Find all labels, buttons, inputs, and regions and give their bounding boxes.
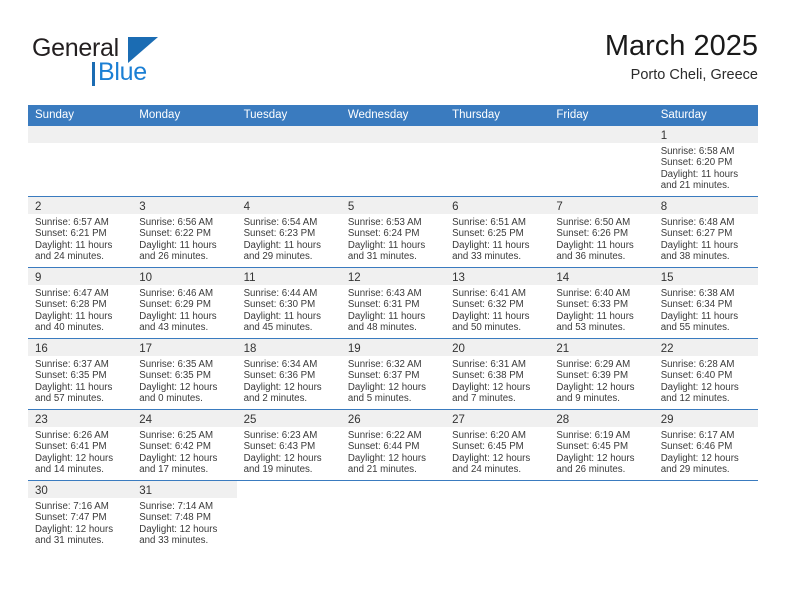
sunrise-text: Sunrise: 6:44 AM [244,288,335,299]
daylight-text-line1: Daylight: 12 hours [556,453,647,464]
day-number: 27 [452,414,465,426]
daylight-text-line2: and 38 minutes. [661,251,752,262]
day-number-band: 24 [132,410,236,427]
day-number-band: 25 [237,410,341,427]
day-number-band [132,126,236,143]
sunset-text: Sunset: 6:24 PM [348,228,439,239]
sunrise-text: Sunrise: 6:19 AM [556,430,647,441]
sunset-text: Sunset: 7:48 PM [139,512,230,523]
calendar-grid: SundayMondayTuesdayWednesdayThursdayFrid… [28,105,758,551]
day-number-band: 26 [341,410,445,427]
sunset-text: Sunset: 6:22 PM [139,228,230,239]
sunset-text: Sunset: 6:35 PM [139,370,230,381]
day-cell-28[interactable]: 28Sunrise: 6:19 AMSunset: 6:45 PMDayligh… [549,410,653,480]
sunset-text: Sunset: 6:30 PM [244,299,335,310]
daylight-text-line1: Daylight: 12 hours [452,453,543,464]
daylight-text-line1: Daylight: 12 hours [452,382,543,393]
day-cell-15[interactable]: 15Sunrise: 6:38 AMSunset: 6:34 PMDayligh… [654,268,758,338]
calendar-week-row: 9Sunrise: 6:47 AMSunset: 6:28 PMDaylight… [28,268,758,339]
day-details: Sunrise: 7:14 AMSunset: 7:48 PMDaylight:… [132,498,236,547]
day-details: Sunrise: 6:32 AMSunset: 6:37 PMDaylight:… [341,356,445,405]
sunset-text: Sunset: 6:32 PM [452,299,543,310]
day-details: Sunrise: 6:17 AMSunset: 6:46 PMDaylight:… [654,427,758,476]
day-number-band: 21 [549,339,653,356]
daylight-text-line1: Daylight: 11 hours [452,311,543,322]
sunset-text: Sunset: 6:29 PM [139,299,230,310]
day-number-band [237,126,341,143]
daylight-text-line2: and 9 minutes. [556,393,647,404]
sunrise-text: Sunrise: 6:37 AM [35,359,126,370]
sunrise-text: Sunrise: 6:57 AM [35,217,126,228]
sunrise-text: Sunrise: 6:29 AM [556,359,647,370]
daylight-text-line1: Daylight: 11 hours [244,311,335,322]
day-details: Sunrise: 6:54 AMSunset: 6:23 PMDaylight:… [237,214,341,263]
day-cell-empty [237,481,341,551]
day-details: Sunrise: 6:28 AMSunset: 6:40 PMDaylight:… [654,356,758,405]
day-cell-7[interactable]: 7Sunrise: 6:50 AMSunset: 6:26 PMDaylight… [549,197,653,267]
day-number-band [654,481,758,498]
weekday-header-row: SundayMondayTuesdayWednesdayThursdayFrid… [28,105,758,126]
sunset-text: Sunset: 6:20 PM [661,157,752,168]
day-number: 20 [452,343,465,355]
day-number-band: 6 [445,197,549,214]
day-number-band: 8 [654,197,758,214]
day-number-band: 23 [28,410,132,427]
daylight-text-line1: Daylight: 11 hours [661,169,752,180]
daylight-text-line2: and 26 minutes. [139,251,230,262]
day-number-band: 29 [654,410,758,427]
daylight-text-line1: Daylight: 11 hours [452,240,543,251]
weekday-header-sunday: Sunday [28,105,132,126]
daylight-text-line1: Daylight: 12 hours [348,453,439,464]
day-cell-5[interactable]: 5Sunrise: 6:53 AMSunset: 6:24 PMDaylight… [341,197,445,267]
day-details: Sunrise: 6:22 AMSunset: 6:44 PMDaylight:… [341,427,445,476]
sunrise-text: Sunrise: 6:43 AM [348,288,439,299]
daylight-text-line2: and 40 minutes. [35,322,126,333]
day-cell-26[interactable]: 26Sunrise: 6:22 AMSunset: 6:44 PMDayligh… [341,410,445,480]
day-number-band: 1 [654,126,758,143]
day-details: Sunrise: 6:51 AMSunset: 6:25 PMDaylight:… [445,214,549,263]
day-details: Sunrise: 6:35 AMSunset: 6:35 PMDaylight:… [132,356,236,405]
daylight-text-line2: and 0 minutes. [139,393,230,404]
day-details: Sunrise: 6:25 AMSunset: 6:42 PMDaylight:… [132,427,236,476]
day-number: 14 [556,272,569,284]
day-number-band: 17 [132,339,236,356]
daylight-text-line2: and 24 minutes. [452,464,543,475]
day-number-band: 3 [132,197,236,214]
daylight-text-line1: Daylight: 12 hours [661,453,752,464]
day-number-band [341,481,445,498]
day-number-band: 7 [549,197,653,214]
daylight-text-line1: Daylight: 12 hours [244,453,335,464]
day-cell-6[interactable]: 6Sunrise: 6:51 AMSunset: 6:25 PMDaylight… [445,197,549,267]
daylight-text-line1: Daylight: 12 hours [35,453,126,464]
daylight-text-line1: Daylight: 12 hours [661,382,752,393]
sunrise-text: Sunrise: 6:23 AM [244,430,335,441]
day-cell-empty [445,126,549,196]
day-number: 22 [661,343,674,355]
page-header: General Blue March 2025 Porto Cheli, Gre… [28,28,758,90]
day-number: 9 [35,272,41,284]
day-number: 30 [35,485,48,497]
day-details: Sunrise: 6:50 AMSunset: 6:26 PMDaylight:… [549,214,653,263]
daylight-text-line2: and 19 minutes. [244,464,335,475]
daylight-text-line2: and 17 minutes. [139,464,230,475]
sunset-text: Sunset: 6:39 PM [556,370,647,381]
day-details: Sunrise: 6:37 AMSunset: 6:35 PMDaylight:… [28,356,132,405]
day-number-band [445,481,549,498]
day-number-band: 22 [654,339,758,356]
sunrise-text: Sunrise: 6:50 AM [556,217,647,228]
day-cell-20[interactable]: 20Sunrise: 6:31 AMSunset: 6:38 PMDayligh… [445,339,549,409]
day-details: Sunrise: 6:48 AMSunset: 6:27 PMDaylight:… [654,214,758,263]
day-details: Sunrise: 6:29 AMSunset: 6:39 PMDaylight:… [549,356,653,405]
sunrise-text: Sunrise: 6:47 AM [35,288,126,299]
day-details: Sunrise: 6:38 AMSunset: 6:34 PMDaylight:… [654,285,758,334]
day-cell-empty [341,126,445,196]
calendar-week-row: 23Sunrise: 6:26 AMSunset: 6:41 PMDayligh… [28,410,758,481]
weekday-header-friday: Friday [549,105,653,126]
sunrise-text: Sunrise: 7:16 AM [35,501,126,512]
sunset-text: Sunset: 6:43 PM [244,441,335,452]
sunrise-text: Sunrise: 6:31 AM [452,359,543,370]
daylight-text-line2: and 33 minutes. [139,535,230,546]
general-blue-logo[interactable]: General Blue [32,34,212,90]
day-details: Sunrise: 6:34 AMSunset: 6:36 PMDaylight:… [237,356,341,405]
day-number: 21 [556,343,569,355]
day-number-band: 9 [28,268,132,285]
sunrise-text: Sunrise: 6:32 AM [348,359,439,370]
sunset-text: Sunset: 6:36 PM [244,370,335,381]
daylight-text-line2: and 12 minutes. [661,393,752,404]
day-number: 7 [556,201,562,213]
day-number: 15 [661,272,674,284]
sunset-text: Sunset: 6:46 PM [661,441,752,452]
daylight-text-line1: Daylight: 11 hours [556,240,647,251]
daylight-text-line1: Daylight: 11 hours [661,240,752,251]
day-cell-13[interactable]: 13Sunrise: 6:41 AMSunset: 6:32 PMDayligh… [445,268,549,338]
sunset-text: Sunset: 7:47 PM [35,512,126,523]
day-details: Sunrise: 6:19 AMSunset: 6:45 PMDaylight:… [549,427,653,476]
day-cell-empty [341,481,445,551]
day-number: 23 [35,414,48,426]
sunset-text: Sunset: 6:42 PM [139,441,230,452]
day-details: Sunrise: 6:20 AMSunset: 6:45 PMDaylight:… [445,427,549,476]
day-cell-22[interactable]: 22Sunrise: 6:28 AMSunset: 6:40 PMDayligh… [654,339,758,409]
sunrise-text: Sunrise: 6:20 AM [452,430,543,441]
day-details: Sunrise: 6:57 AMSunset: 6:21 PMDaylight:… [28,214,132,263]
day-cell-19[interactable]: 19Sunrise: 6:32 AMSunset: 6:37 PMDayligh… [341,339,445,409]
daylight-text-line1: Daylight: 12 hours [35,524,126,535]
day-number-band: 10 [132,268,236,285]
sunset-text: Sunset: 6:37 PM [348,370,439,381]
sunrise-text: Sunrise: 6:54 AM [244,217,335,228]
daylight-text-line2: and 45 minutes. [244,322,335,333]
daylight-text-line2: and 21 minutes. [348,464,439,475]
day-details: Sunrise: 7:16 AMSunset: 7:47 PMDaylight:… [28,498,132,547]
sunset-text: Sunset: 6:38 PM [452,370,543,381]
daylight-text-line1: Daylight: 12 hours [139,524,230,535]
day-number-band [341,126,445,143]
day-details: Sunrise: 6:23 AMSunset: 6:43 PMDaylight:… [237,427,341,476]
daylight-text-line1: Daylight: 11 hours [556,311,647,322]
daylight-text-line2: and 29 minutes. [244,251,335,262]
day-number: 8 [661,201,667,213]
sunrise-text: Sunrise: 6:22 AM [348,430,439,441]
day-number: 4 [244,201,250,213]
sunrise-text: Sunrise: 6:51 AM [452,217,543,228]
day-cell-12[interactable]: 12Sunrise: 6:43 AMSunset: 6:31 PMDayligh… [341,268,445,338]
logo-bar-icon [92,62,95,86]
day-number-band: 31 [132,481,236,498]
weekday-header-tuesday: Tuesday [237,105,341,126]
sunrise-text: Sunrise: 6:28 AM [661,359,752,370]
sunrise-text: Sunrise: 6:34 AM [244,359,335,370]
sunset-text: Sunset: 6:45 PM [556,441,647,452]
calendar-week-row: 2Sunrise: 6:57 AMSunset: 6:21 PMDaylight… [28,197,758,268]
daylight-text-line2: and 36 minutes. [556,251,647,262]
day-number: 18 [244,343,257,355]
sunset-text: Sunset: 6:31 PM [348,299,439,310]
day-number-band: 18 [237,339,341,356]
day-details: Sunrise: 6:31 AMSunset: 6:38 PMDaylight:… [445,356,549,405]
day-number-band [549,126,653,143]
day-number: 24 [139,414,152,426]
day-cell-16[interactable]: 16Sunrise: 6:37 AMSunset: 6:35 PMDayligh… [28,339,132,409]
day-cell-31[interactable]: 31Sunrise: 7:14 AMSunset: 7:48 PMDayligh… [132,481,236,551]
day-cell-14[interactable]: 14Sunrise: 6:40 AMSunset: 6:33 PMDayligh… [549,268,653,338]
day-number-band: 14 [549,268,653,285]
sunrise-text: Sunrise: 6:17 AM [661,430,752,441]
day-cell-empty [549,126,653,196]
day-number: 16 [35,343,48,355]
day-cell-empty [132,126,236,196]
sunrise-text: Sunrise: 7:14 AM [139,501,230,512]
day-cell-25[interactable]: 25Sunrise: 6:23 AMSunset: 6:43 PMDayligh… [237,410,341,480]
sunset-text: Sunset: 6:28 PM [35,299,126,310]
logo-text-blue: Blue [98,58,147,87]
daylight-text-line1: Daylight: 11 hours [244,240,335,251]
day-details: Sunrise: 6:43 AMSunset: 6:31 PMDaylight:… [341,285,445,334]
day-cell-10[interactable]: 10Sunrise: 6:46 AMSunset: 6:29 PMDayligh… [132,268,236,338]
day-number-band: 2 [28,197,132,214]
sunrise-text: Sunrise: 6:41 AM [452,288,543,299]
day-number-band: 27 [445,410,549,427]
day-number: 13 [452,272,465,284]
day-number-band: 16 [28,339,132,356]
sunset-text: Sunset: 6:27 PM [661,228,752,239]
sunrise-text: Sunrise: 6:26 AM [35,430,126,441]
day-number: 25 [244,414,257,426]
sunset-text: Sunset: 6:33 PM [556,299,647,310]
day-number-band: 20 [445,339,549,356]
day-cell-empty [445,481,549,551]
day-cell-30[interactable]: 30Sunrise: 7:16 AMSunset: 7:47 PMDayligh… [28,481,132,551]
day-number: 10 [139,272,152,284]
day-details: Sunrise: 6:41 AMSunset: 6:32 PMDaylight:… [445,285,549,334]
sunset-text: Sunset: 6:34 PM [661,299,752,310]
day-cell-23[interactable]: 23Sunrise: 6:26 AMSunset: 6:41 PMDayligh… [28,410,132,480]
calendar-week-row: 16Sunrise: 6:37 AMSunset: 6:35 PMDayligh… [28,339,758,410]
day-cell-2[interactable]: 2Sunrise: 6:57 AMSunset: 6:21 PMDaylight… [28,197,132,267]
daylight-text-line1: Daylight: 12 hours [139,382,230,393]
day-cell-empty [549,481,653,551]
weekday-header-saturday: Saturday [654,105,758,126]
day-number-band [28,126,132,143]
daylight-text-line2: and 24 minutes. [35,251,126,262]
sunrise-text: Sunrise: 6:58 AM [661,146,752,157]
daylight-text-line2: and 43 minutes. [139,322,230,333]
day-number: 19 [348,343,361,355]
day-cell-9[interactable]: 9Sunrise: 6:47 AMSunset: 6:28 PMDaylight… [28,268,132,338]
sunset-text: Sunset: 6:35 PM [35,370,126,381]
sunrise-text: Sunrise: 6:38 AM [661,288,752,299]
day-number: 26 [348,414,361,426]
day-number-band: 12 [341,268,445,285]
day-cell-29[interactable]: 29Sunrise: 6:17 AMSunset: 6:46 PMDayligh… [654,410,758,480]
calendar-weeks: 1Sunrise: 6:58 AMSunset: 6:20 PMDaylight… [28,126,758,551]
day-cell-empty [654,481,758,551]
day-cell-27[interactable]: 27Sunrise: 6:20 AMSunset: 6:45 PMDayligh… [445,410,549,480]
daylight-text-line1: Daylight: 11 hours [139,240,230,251]
sunrise-text: Sunrise: 6:53 AM [348,217,439,228]
sunset-text: Sunset: 6:45 PM [452,441,543,452]
day-number-band: 5 [341,197,445,214]
sunset-text: Sunset: 6:25 PM [452,228,543,239]
daylight-text-line2: and 31 minutes. [348,251,439,262]
day-cell-18[interactable]: 18Sunrise: 6:34 AMSunset: 6:36 PMDayligh… [237,339,341,409]
daylight-text-line2: and 7 minutes. [452,393,543,404]
daylight-text-line1: Daylight: 11 hours [35,382,126,393]
page-subtitle: Porto Cheli, Greece [605,64,758,86]
daylight-text-line1: Daylight: 11 hours [35,311,126,322]
day-details: Sunrise: 6:26 AMSunset: 6:41 PMDaylight:… [28,427,132,476]
day-number: 2 [35,201,41,213]
weekday-header-thursday: Thursday [445,105,549,126]
title-block: March 2025 Porto Cheli, Greece [605,28,758,86]
day-cell-21[interactable]: 21Sunrise: 6:29 AMSunset: 6:39 PMDayligh… [549,339,653,409]
calendar-week-row: 30Sunrise: 7:16 AMSunset: 7:47 PMDayligh… [28,481,758,551]
sunrise-text: Sunrise: 6:40 AM [556,288,647,299]
calendar-page: General Blue March 2025 Porto Cheli, Gre… [0,0,792,612]
daylight-text-line1: Daylight: 11 hours [661,311,752,322]
day-number-band: 4 [237,197,341,214]
day-cell-8[interactable]: 8Sunrise: 6:48 AMSunset: 6:27 PMDaylight… [654,197,758,267]
sunrise-text: Sunrise: 6:35 AM [139,359,230,370]
daylight-text-line1: Daylight: 11 hours [35,240,126,251]
day-details: Sunrise: 6:47 AMSunset: 6:28 PMDaylight:… [28,285,132,334]
page-title: March 2025 [605,28,758,64]
daylight-text-line2: and 14 minutes. [35,464,126,475]
daylight-text-line2: and 26 minutes. [556,464,647,475]
daylight-text-line2: and 57 minutes. [35,393,126,404]
day-number-band: 11 [237,268,341,285]
daylight-text-line2: and 21 minutes. [661,180,752,191]
day-cell-17[interactable]: 17Sunrise: 6:35 AMSunset: 6:35 PMDayligh… [132,339,236,409]
day-number: 17 [139,343,152,355]
day-number: 28 [556,414,569,426]
daylight-text-line1: Daylight: 12 hours [348,382,439,393]
daylight-text-line2: and 31 minutes. [35,535,126,546]
day-number: 11 [244,272,256,284]
daylight-text-line1: Daylight: 12 hours [244,382,335,393]
daylight-text-line2: and 55 minutes. [661,322,752,333]
day-cell-3[interactable]: 3Sunrise: 6:56 AMSunset: 6:22 PMDaylight… [132,197,236,267]
day-cell-empty [237,126,341,196]
sunset-text: Sunset: 6:21 PM [35,228,126,239]
day-details: Sunrise: 6:56 AMSunset: 6:22 PMDaylight:… [132,214,236,263]
day-cell-24[interactable]: 24Sunrise: 6:25 AMSunset: 6:42 PMDayligh… [132,410,236,480]
day-number: 29 [661,414,674,426]
sunset-text: Sunset: 6:40 PM [661,370,752,381]
daylight-text-line1: Daylight: 12 hours [139,453,230,464]
sunset-text: Sunset: 6:44 PM [348,441,439,452]
sunset-text: Sunset: 6:23 PM [244,228,335,239]
daylight-text-line2: and 29 minutes. [661,464,752,475]
day-number-band [237,481,341,498]
day-number-band [445,126,549,143]
daylight-text-line2: and 33 minutes. [452,251,543,262]
day-number-band: 28 [549,410,653,427]
day-number-band: 15 [654,268,758,285]
day-details: Sunrise: 6:58 AMSunset: 6:20 PMDaylight:… [654,143,758,192]
daylight-text-line2: and 50 minutes. [452,322,543,333]
daylight-text-line1: Daylight: 11 hours [348,240,439,251]
daylight-text-line2: and 2 minutes. [244,393,335,404]
daylight-text-line2: and 53 minutes. [556,322,647,333]
calendar-week-row: 1Sunrise: 6:58 AMSunset: 6:20 PMDaylight… [28,126,758,197]
sunrise-text: Sunrise: 6:25 AM [139,430,230,441]
sunset-text: Sunset: 6:26 PM [556,228,647,239]
weekday-header-monday: Monday [132,105,236,126]
day-details: Sunrise: 6:46 AMSunset: 6:29 PMDaylight:… [132,285,236,334]
daylight-text-line1: Daylight: 11 hours [348,311,439,322]
daylight-text-line1: Daylight: 11 hours [139,311,230,322]
day-cell-empty [28,126,132,196]
daylight-text-line2: and 5 minutes. [348,393,439,404]
day-cell-11[interactable]: 11Sunrise: 6:44 AMSunset: 6:30 PMDayligh… [237,268,341,338]
sunset-text: Sunset: 6:41 PM [35,441,126,452]
sunrise-text: Sunrise: 6:48 AM [661,217,752,228]
day-details: Sunrise: 6:40 AMSunset: 6:33 PMDaylight:… [549,285,653,334]
day-number-band: 30 [28,481,132,498]
day-number: 6 [452,201,458,213]
day-number: 3 [139,201,145,213]
weekday-header-wednesday: Wednesday [341,105,445,126]
day-number-band [549,481,653,498]
day-number-band: 19 [341,339,445,356]
day-number: 31 [139,485,152,497]
daylight-text-line2: and 48 minutes. [348,322,439,333]
sunrise-text: Sunrise: 6:46 AM [139,288,230,299]
daylight-text-line1: Daylight: 12 hours [556,382,647,393]
day-number-band: 13 [445,268,549,285]
day-number: 5 [348,201,354,213]
day-number: 1 [661,130,667,142]
day-number: 12 [348,272,361,284]
day-details: Sunrise: 6:44 AMSunset: 6:30 PMDaylight:… [237,285,341,334]
sunrise-text: Sunrise: 6:56 AM [139,217,230,228]
day-cell-1[interactable]: 1Sunrise: 6:58 AMSunset: 6:20 PMDaylight… [654,126,758,196]
day-details: Sunrise: 6:53 AMSunset: 6:24 PMDaylight:… [341,214,445,263]
day-cell-4[interactable]: 4Sunrise: 6:54 AMSunset: 6:23 PMDaylight… [237,197,341,267]
